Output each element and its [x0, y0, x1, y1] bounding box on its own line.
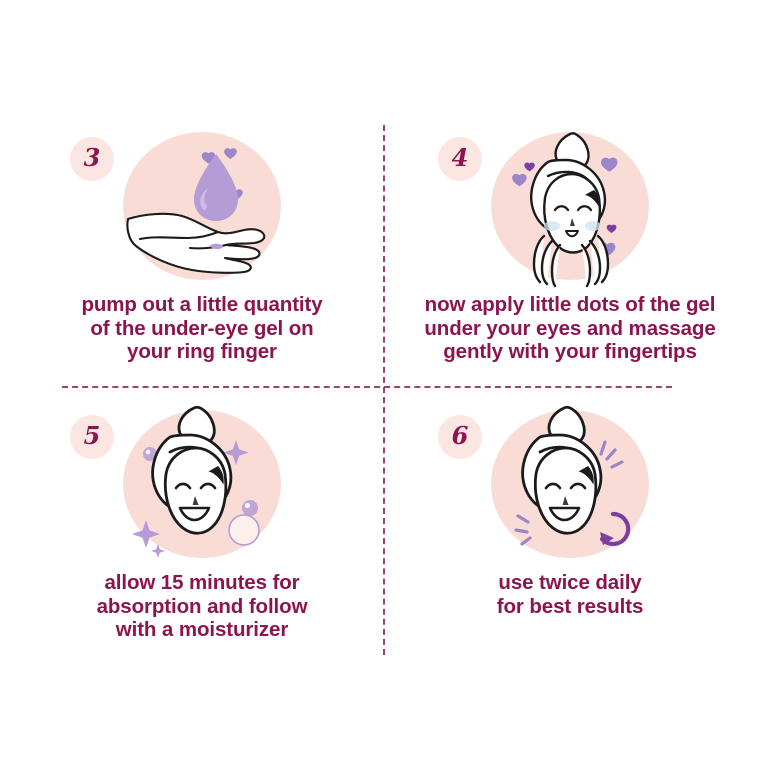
caption-line: absorption and follow	[26, 595, 378, 619]
caption-line: under your eyes and massage	[394, 317, 746, 341]
step-caption-3: pump out a little quantity of the under-…	[18, 293, 386, 364]
woman-applying-gel-under-eyes-icon	[482, 126, 658, 292]
step-panel-4: 4	[386, 120, 754, 388]
step-caption-6: use twice daily for best results	[386, 571, 754, 618]
step-number-badge-6: 6	[438, 415, 482, 459]
step-number-label-6: 6	[452, 424, 469, 448]
step-caption-4: now apply little dots of the gel under y…	[386, 293, 754, 364]
step-panel-6: 6	[386, 398, 754, 666]
step-panel-3: 3 pump out a litt	[18, 120, 386, 388]
step-number-badge-3: 3	[70, 137, 114, 181]
skincare-steps-infographic: 3 pump out a litt	[0, 0, 767, 767]
hand-with-gel-drop-icon	[114, 126, 290, 292]
caption-line: gently with your fingertips	[394, 340, 746, 364]
woman-with-repeat-arrow-icon	[482, 404, 658, 570]
step-number-badge-5: 5	[70, 415, 114, 459]
step-number-label-5: 5	[84, 424, 101, 448]
step-number-label-4: 4	[452, 146, 469, 170]
caption-line: of the under-eye gel on	[26, 317, 378, 341]
caption-line: now apply little dots of the gel	[394, 293, 746, 317]
caption-line: your ring finger	[26, 340, 378, 364]
woman-with-sparkles-and-bubbles-icon	[114, 404, 290, 570]
step-number-label-3: 3	[84, 146, 101, 170]
step-panel-5: 5	[18, 398, 386, 666]
caption-line: use twice daily	[394, 571, 746, 595]
caption-line: allow 15 minutes for	[26, 571, 378, 595]
caption-line: with a moisturizer	[26, 618, 378, 642]
caption-line: for best results	[394, 595, 746, 619]
caption-line: pump out a little quantity	[26, 293, 378, 317]
step-caption-5: allow 15 minutes for absorption and foll…	[18, 571, 386, 642]
step-number-badge-4: 4	[438, 137, 482, 181]
